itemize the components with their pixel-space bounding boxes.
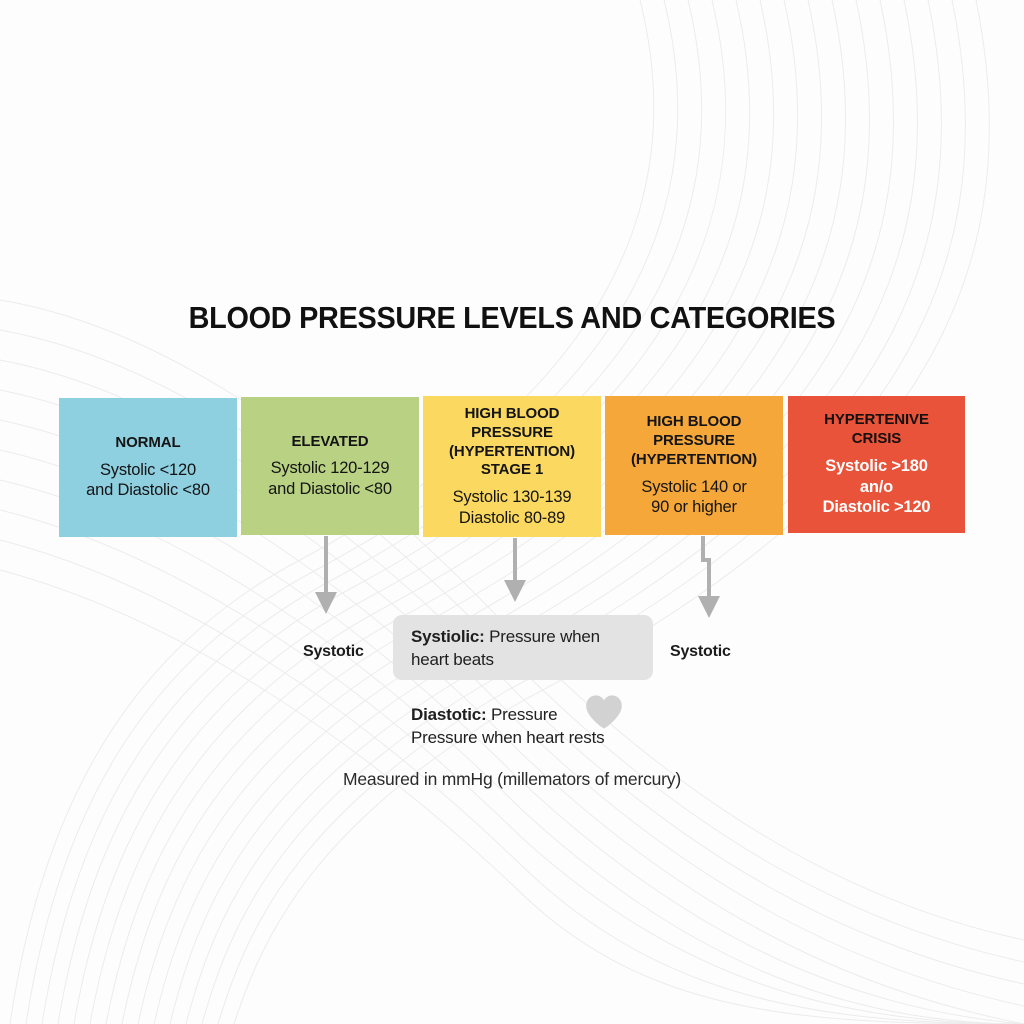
category-block-normal: NORMAL Systolic <120 and Diastolic <80 xyxy=(59,398,237,537)
category-values: Systolic 130-139 Diastolic 80-89 xyxy=(453,487,572,528)
category-heading: NORMAL xyxy=(115,434,180,453)
category-value-line-2: and Diastolic <80 xyxy=(268,479,392,499)
category-value-line-1: Systolic 130-139 xyxy=(453,487,572,507)
callout-definition: Pressure when xyxy=(485,627,600,646)
page-title: BLOOD PRESSURE LEVELS AND CATEGORIES xyxy=(36,300,988,336)
category-values: Systolic >180 an/o Diastolic >120 xyxy=(823,456,931,517)
category-value-line-2: an/o xyxy=(823,477,931,497)
category-block-stage-1: HIGH BLOOD PRESSURE (HYPERTENTION) STAGE… xyxy=(423,396,601,537)
connector-arrow-left xyxy=(310,536,342,616)
category-value-line-1: Systolic 140 or xyxy=(641,477,746,497)
category-block-stage-2: HIGH BLOOD PRESSURE (HYPERTENTION) Systo… xyxy=(605,396,783,535)
category-value-line-3: Diastolic >120 xyxy=(823,497,931,517)
callout-line-2: heart beats xyxy=(411,649,639,672)
footer-note: Measured in mmHg (millemators of mercury… xyxy=(0,769,1024,790)
sublabel-systolic-left: Systotic xyxy=(303,643,364,661)
category-heading-line-1: HIGH BLOOD xyxy=(631,413,757,432)
category-heading-line-3: (HYPERTENTION) xyxy=(631,451,757,470)
category-value-line-2: Diastolic 80-89 xyxy=(453,508,572,528)
category-value-line-2: 90 or higher xyxy=(641,497,746,517)
category-heading: HYPERTENIVE CRISIS xyxy=(824,411,929,449)
category-heading-line-1: HYPERTENIVE xyxy=(824,411,929,430)
category-heading-line-2: CRISIS xyxy=(824,430,929,449)
category-value-line-1: Systolic >180 xyxy=(823,456,931,476)
category-heading-line-2: PRESSURE xyxy=(631,432,757,451)
category-heading: HIGH BLOOD PRESSURE (HYPERTENTION) xyxy=(631,413,757,470)
callout-systolic-definition: Systiolic: Pressure when heart beats xyxy=(393,615,653,680)
heart-icon xyxy=(585,694,623,730)
category-value-line-2: and Diastolic <80 xyxy=(86,480,210,500)
sublabel-systolic-right: Systotic xyxy=(670,643,731,661)
category-heading: HIGH BLOOD PRESSURE (HYPERTENTION) STAGE… xyxy=(431,405,593,481)
diastolic-term: Diastotic: xyxy=(411,705,486,724)
diastolic-line-1: Diastotic: Pressure xyxy=(411,703,711,726)
category-values: Systolic <120 and Diastolic <80 xyxy=(86,460,210,501)
category-heading: ELEVATED xyxy=(292,433,369,452)
category-block-crisis: HYPERTENIVE CRISIS Systolic >180 an/o Di… xyxy=(788,396,965,533)
category-values: Systolic 120-129 and Diastolic <80 xyxy=(268,458,392,499)
category-block-elevated: ELEVATED Systolic 120-129 and Diastolic … xyxy=(241,397,419,535)
diastolic-line-2: Pressure when heart rests xyxy=(411,726,711,749)
infographic-canvas: BLOOD PRESSURE LEVELS AND CATEGORIES NOR… xyxy=(0,0,1024,1024)
category-value-line-1: Systolic <120 xyxy=(86,460,210,480)
category-value-line-1: Systolic 120-129 xyxy=(268,458,392,478)
connector-arrow-middle xyxy=(499,538,531,604)
category-heading-line-1: HIGH BLOOD PRESSURE xyxy=(431,405,593,443)
callout-line-1: Systiolic: Pressure when xyxy=(411,626,639,649)
callout-term: Systiolic: xyxy=(411,627,485,646)
category-values: Systolic 140 or 90 or higher xyxy=(641,477,746,518)
diastolic-definition: Pressure xyxy=(486,705,557,724)
category-heading-line-2: (HYPERTENTION) xyxy=(431,443,593,462)
category-heading-line-3: STAGE 1 xyxy=(431,461,593,480)
callout-diastolic-definition: Diastotic: Pressure Pressure when heart … xyxy=(411,703,711,750)
connector-arrow-right xyxy=(688,536,728,620)
